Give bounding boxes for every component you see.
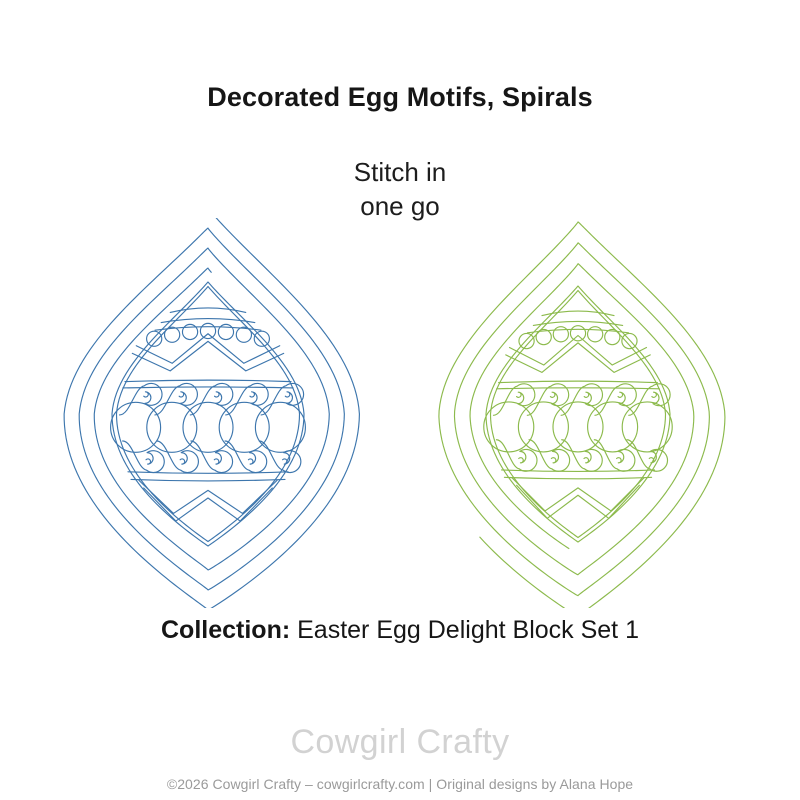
page-title: Decorated Egg Motifs, Spirals [0, 82, 800, 113]
collection-line: Collection: Easter Egg Delight Block Set… [0, 616, 800, 645]
collection-label: Collection: [161, 616, 290, 644]
motif-green-egg [400, 218, 800, 608]
motif-blue-egg [0, 218, 405, 608]
stitch-instruction-line-1: Stitch in [0, 155, 800, 189]
motif-artwork [0, 218, 800, 608]
stitch-instruction: Stitch in one go [0, 155, 800, 224]
collection-name: Easter Egg Delight Block Set 1 [297, 616, 639, 644]
copyright-notice: ©2026 Cowgirl Crafty – cowgirlcrafty.com… [0, 776, 800, 792]
watermark: Cowgirl Crafty [0, 723, 800, 762]
design-sheet: Decorated Egg Motifs, Spirals Stitch in … [0, 0, 800, 800]
